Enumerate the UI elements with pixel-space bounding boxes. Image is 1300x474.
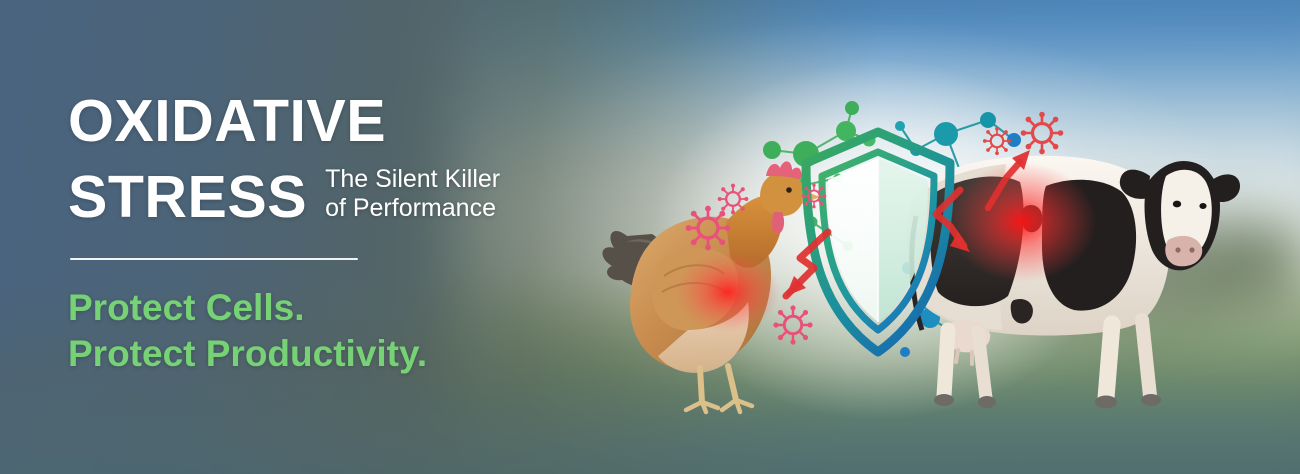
headline-row-2: STRESS The Silent Killer of Performance (68, 165, 608, 227)
red-arrow-cow-up (988, 162, 1020, 208)
subheadline: The Silent Killer of Performance (325, 165, 500, 227)
virus-icon-chicken-1 (686, 206, 731, 251)
divider-rule (70, 258, 358, 260)
headline-line-1: OXIDATIVE (68, 92, 608, 151)
virus-icon-chicken-4 (802, 184, 827, 209)
headline-block: OXIDATIVE STRESS The Silent Killer of Pe… (68, 92, 608, 378)
oxidative-stress-banner: OXIDATIVE STRESS The Silent Killer of Pe… (0, 0, 1300, 474)
virus-icon-cow-2 (983, 127, 1011, 155)
virus-icon-cow-1 (1021, 112, 1064, 155)
headline-line-2: STRESS (68, 168, 307, 227)
virus-icon-chicken-2 (718, 184, 749, 215)
tagline: Protect Cells. Protect Productivity. (68, 285, 608, 378)
virus-icon-chicken-3 (773, 305, 812, 344)
